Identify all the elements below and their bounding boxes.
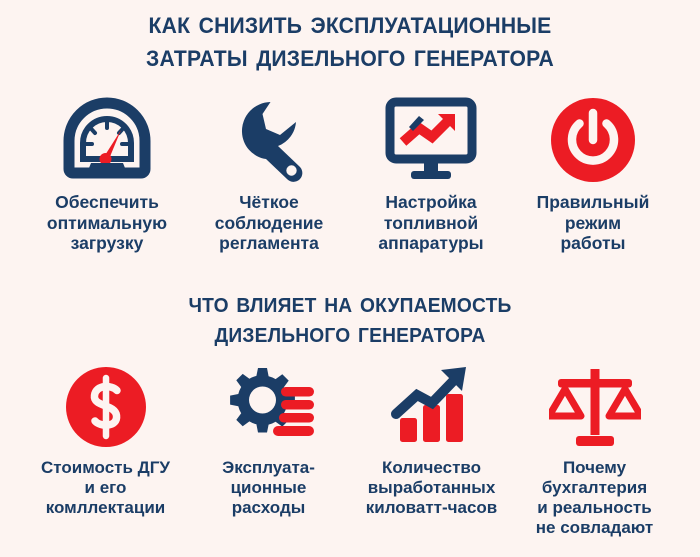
item-regulations-label: Чёткое соблюдение регламента bbox=[215, 192, 324, 254]
section-1-heading-line-2: ЗАТРАТЫ ДИЗЕЛЬНОГО ГЕНЕРАТОРА bbox=[14, 39, 686, 72]
infographic-page: КАК СНИЗИТЬ ЭКСПЛУАТАЦИОННЫЕ ЗАТРАТЫ ДИЗ… bbox=[0, 0, 700, 557]
gear-list-icon bbox=[221, 362, 317, 452]
item-dgu-cost: Стоимость ДГУ и его комллектации bbox=[24, 362, 187, 518]
bar-chart-arrow-icon bbox=[386, 362, 478, 452]
item-optimal-load: Обеспечить оптимальную загрузку bbox=[26, 94, 188, 254]
item-optimal-load-label: Обеспечить оптимальную загрузку bbox=[47, 192, 167, 254]
item-accounting-vs-reality: Почему бухгалтерия и реальность не совла… bbox=[513, 362, 676, 538]
item-fuel-system-tuning: Настройка топливной аппаратуры bbox=[350, 94, 512, 254]
item-kilowatt-hours: Количество выработанных киловатт-часов bbox=[350, 362, 513, 518]
section-2-items: Стоимость ДГУ и его комллектации bbox=[0, 362, 700, 538]
scales-icon bbox=[549, 362, 641, 452]
gauge-icon bbox=[61, 94, 153, 186]
section-1-heading-line-1: КАК СНИЗИТЬ ЭКСПЛУАТАЦИОННЫЕ bbox=[14, 6, 686, 39]
item-dgu-cost-label: Стоимость ДГУ и его комллектации bbox=[41, 458, 170, 518]
section-2-heading-line-2: ДИЗЕЛЬНОГО ГЕНЕРАТОРА bbox=[14, 318, 686, 348]
section-1-items: Обеспечить оптимальную загрузку Чёткое с… bbox=[0, 94, 700, 254]
item-operating-expenses: Эксплуата- ционные расходы bbox=[187, 362, 350, 518]
section-1-heading: КАК СНИЗИТЬ ЭКСПЛУАТАЦИОННЫЕ ЗАТРАТЫ ДИЗ… bbox=[0, 6, 700, 73]
item-regulations: Чёткое соблюдение регламента bbox=[188, 94, 350, 254]
item-correct-operating-mode: Правильный режим работы bbox=[512, 94, 674, 254]
section-2-heading: ЧТО ВЛИЯЕТ НА ОКУПАЕМОСТЬ ДИЗЕЛЬНОГО ГЕН… bbox=[0, 288, 700, 348]
item-fuel-system-tuning-label: Настройка топливной аппаратуры bbox=[378, 192, 483, 254]
item-accounting-vs-reality-label: Почему бухгалтерия и реальность не совла… bbox=[536, 458, 653, 538]
wrench-icon bbox=[226, 94, 312, 186]
monitor-growth-icon bbox=[383, 94, 479, 186]
dollar-coin-icon bbox=[64, 362, 148, 452]
power-button-icon bbox=[549, 94, 637, 186]
item-kilowatt-hours-label: Количество выработанных киловатт-часов bbox=[366, 458, 498, 518]
section-2-heading-line-1: ЧТО ВЛИЯЕТ НА ОКУПАЕМОСТЬ bbox=[14, 288, 686, 318]
item-correct-operating-mode-label: Правильный режим работы bbox=[537, 192, 650, 254]
item-operating-expenses-label: Эксплуата- ционные расходы bbox=[222, 458, 315, 518]
